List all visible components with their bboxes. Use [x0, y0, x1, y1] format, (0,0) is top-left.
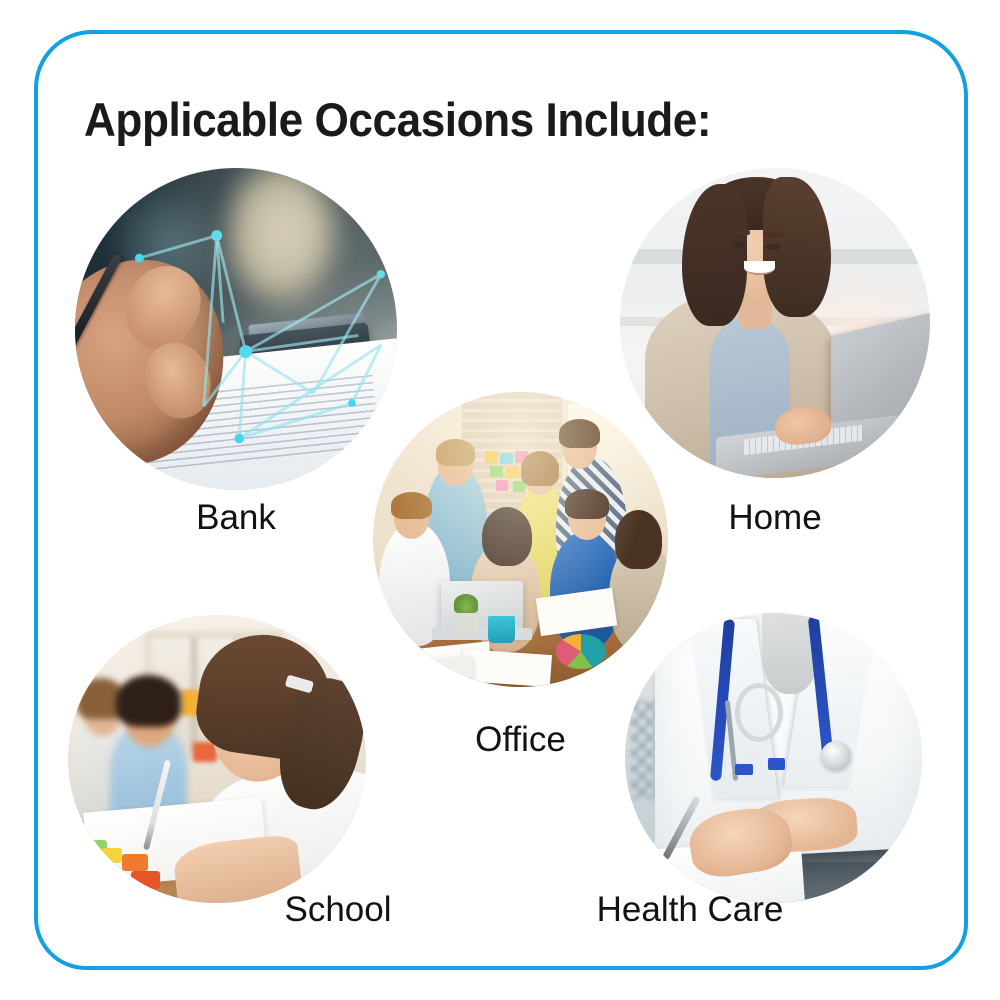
bank-scene: [75, 168, 397, 490]
office-scene: [373, 392, 668, 687]
bank-photo: [75, 168, 397, 490]
school-photo: [68, 615, 366, 903]
healthcare-photo: [625, 613, 922, 903]
occasion-label-office: Office: [373, 720, 668, 760]
office-photo: [373, 392, 668, 687]
infographic-canvas: Applicable Occasions Include:: [0, 0, 1000, 1000]
occasion-label-bank: Bank: [75, 498, 397, 538]
healthcare-scene: [625, 613, 922, 903]
occasion-label-healthcare: Health Care: [500, 890, 880, 930]
school-scene: [68, 615, 366, 903]
page-title: Applicable Occasions Include:: [84, 92, 711, 147]
occasion-label-school: School: [238, 890, 438, 930]
